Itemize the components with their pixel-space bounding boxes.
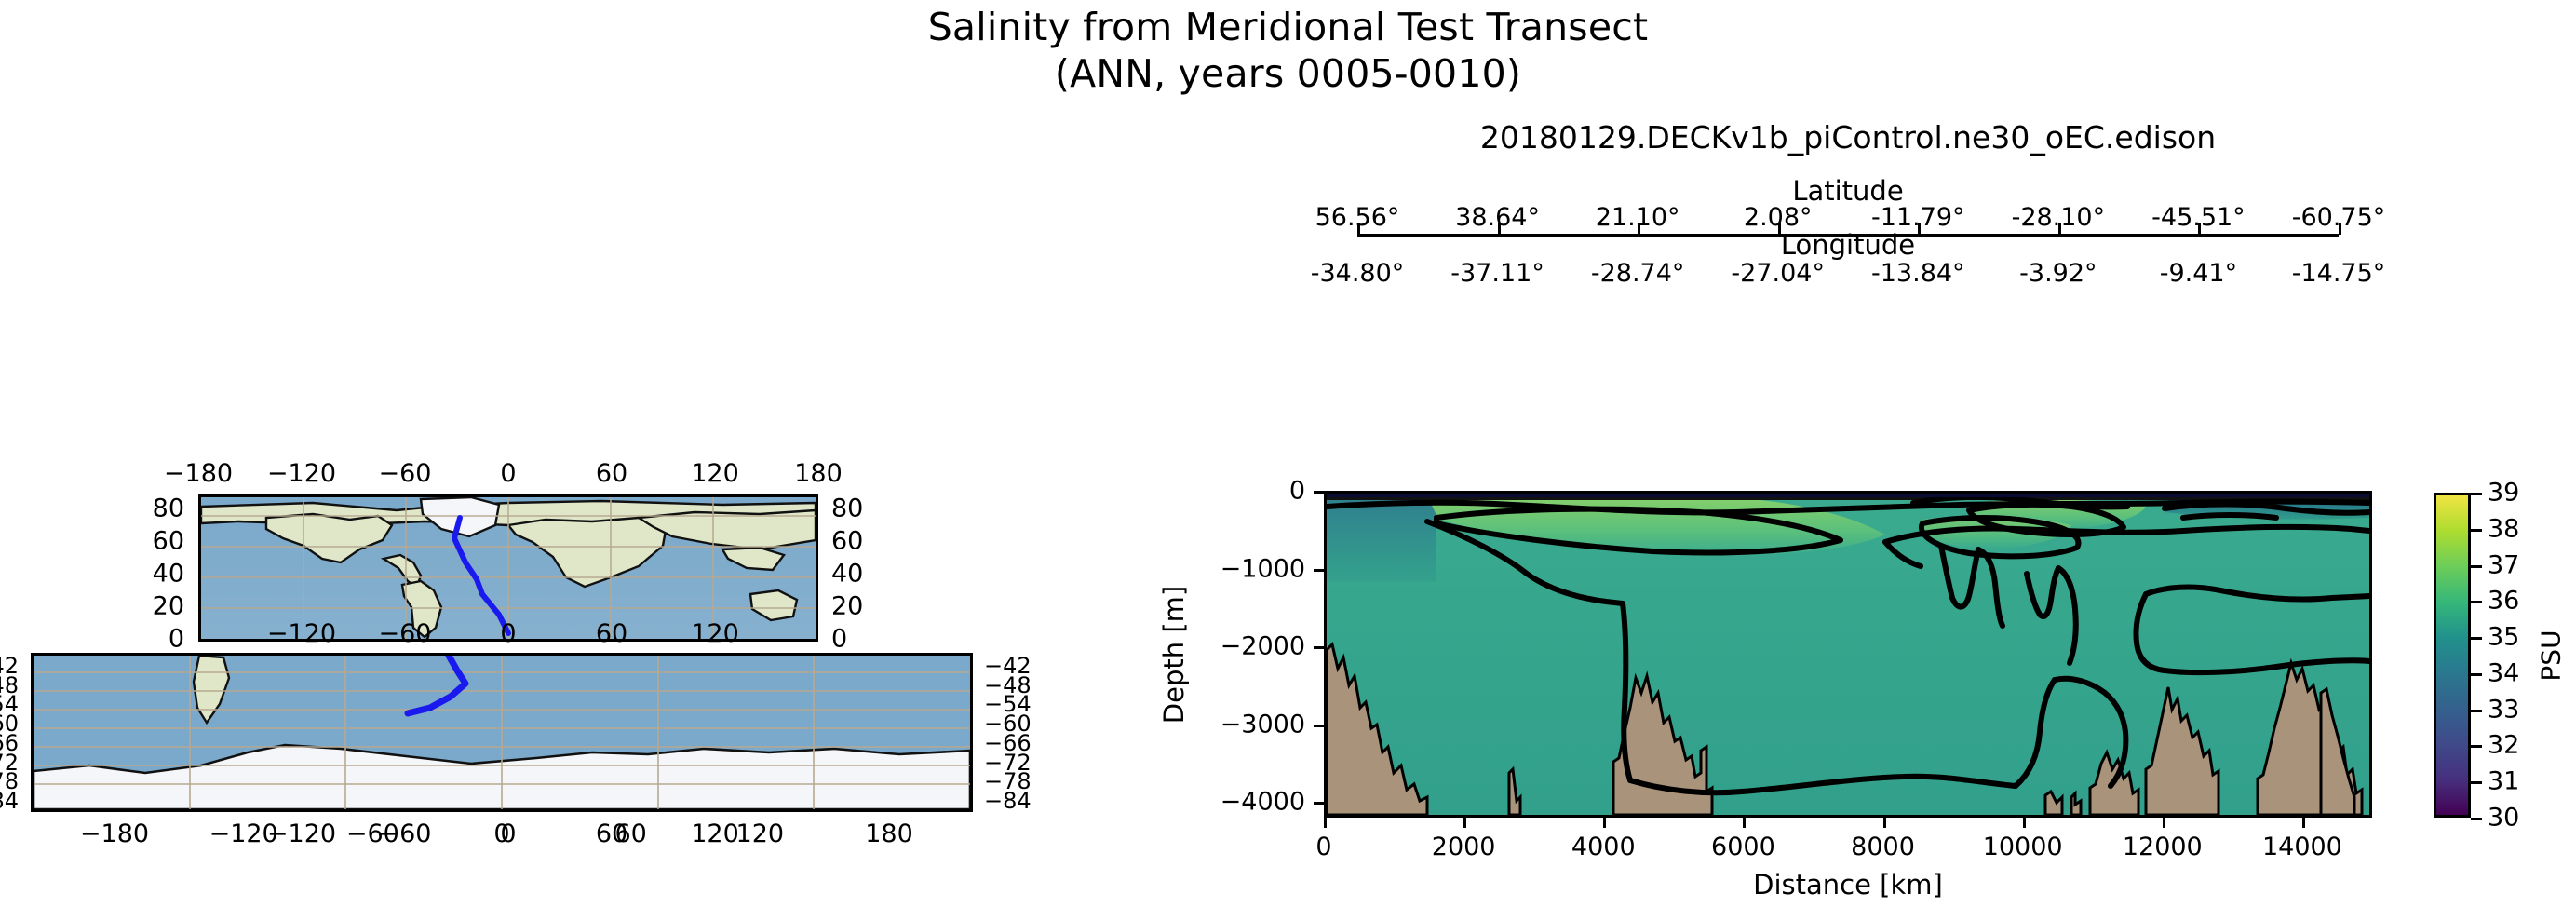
longitude-axis-label: Longitude xyxy=(1781,229,1915,261)
map-top-x-tick-5: 120 xyxy=(691,459,739,488)
longitude-tick-3: -27.04° xyxy=(1731,259,1825,288)
map-top-y-tick-right-2: 40 xyxy=(831,560,863,589)
world-map-global-svg xyxy=(201,497,816,639)
colorbar-tick-label-7: 32 xyxy=(2488,731,2519,760)
longitude-tick-5: -3.92° xyxy=(2019,259,2097,288)
longitude-tick-4: -13.84° xyxy=(1871,259,1965,288)
colorbar-tick-label-9: 30 xyxy=(2488,804,2519,833)
depth-axis-tick-4 xyxy=(1314,802,1324,805)
map-bottom-x-tick-overlay-2: 0 xyxy=(500,819,516,848)
map-top-x-tick-1: −120 xyxy=(267,459,336,488)
figure-title: Salinity from Meridional Test Transect (… xyxy=(0,4,2576,97)
distance-tick-label-1: 2000 xyxy=(1432,833,1496,861)
distance-tick-label-5: 10000 xyxy=(1983,833,2063,861)
depth-tick-label-4: −4000 xyxy=(1184,788,1305,817)
depth-tick-label-0: 0 xyxy=(1184,477,1305,506)
map-bottom-x-tick-overlay-1: −60 xyxy=(379,819,432,848)
depth-axis-tick-3 xyxy=(1314,725,1324,727)
colorbar[interactable] xyxy=(2434,493,2471,818)
colorbar-tick-label-0: 39 xyxy=(2488,479,2519,508)
depth-axis-tick-0 xyxy=(1314,491,1324,494)
map-top-x-tick-2: −60 xyxy=(379,459,432,488)
longitude-tick-7: -14.75° xyxy=(2292,259,2386,288)
map-bottom-x-tick-overlay-3: 60 xyxy=(596,819,627,848)
panel-title: 20180129.DECKv1b_piControl.ne30_oEC.edis… xyxy=(1324,119,2372,156)
colorbar-tick-label-5: 34 xyxy=(2488,658,2519,687)
map-bottom-y-tick-right-7: −84 xyxy=(984,788,1032,814)
world-map-southern[interactable] xyxy=(31,653,973,812)
map-top-x-tick-overlay-0: −120 xyxy=(267,619,336,648)
colorbar-tick-8 xyxy=(2471,781,2482,784)
map-top-x-tick-overlay-4: 120 xyxy=(691,619,739,648)
map-top-x-tick-overlay-2: 0 xyxy=(500,619,516,648)
colorbar-tick-3 xyxy=(2471,601,2482,603)
colorbar-tick-label-2: 37 xyxy=(2488,550,2519,579)
map-top-y-tick-right-3: 20 xyxy=(831,592,863,621)
map-top-x-tick-0: −180 xyxy=(164,459,233,488)
salinity-section-plot[interactable] xyxy=(1324,491,2372,818)
latitude-axis-tick-6 xyxy=(2198,223,2201,235)
longitude-tick-0: -34.80° xyxy=(1311,259,1405,288)
longitude-tick-2: -28.74° xyxy=(1591,259,1685,288)
distance-axis-tick-0 xyxy=(1324,818,1327,828)
depth-axis-tick-2 xyxy=(1314,646,1324,649)
map-top-y-tick-left-1: 60 xyxy=(110,527,184,556)
depth-tick-label-2: −2000 xyxy=(1184,632,1305,661)
map-top-y-tick-left-4: 0 xyxy=(110,625,184,654)
map-top-x-tick-4: 60 xyxy=(596,459,627,488)
map-top-y-tick-left-3: 20 xyxy=(110,592,184,621)
distance-tick-label-7: 14000 xyxy=(2262,833,2342,861)
map-top-x-tick-3: 0 xyxy=(500,459,516,488)
map-top-x-tick-overlay-3: 60 xyxy=(596,619,627,648)
colorbar-tick-label-8: 31 xyxy=(2488,767,2519,796)
map-bottom-x-tick-5: 120 xyxy=(736,819,785,848)
colorbar-tick-6 xyxy=(2471,710,2482,712)
salinity-section-svg xyxy=(1327,494,2369,815)
map-top-y-tick-right-1: 60 xyxy=(831,527,863,556)
colorbar-tick-label-3: 36 xyxy=(2488,587,2519,616)
map-bottom-x-tick-0: −180 xyxy=(80,819,149,848)
map-top-y-tick-left-0: 80 xyxy=(110,494,184,523)
colorbar-tick-4 xyxy=(2471,637,2482,640)
map-bottom-x-tick-6: 180 xyxy=(865,819,913,848)
colorbar-tick-5 xyxy=(2471,673,2482,676)
distance-axis-tick-3 xyxy=(1743,818,1746,828)
distance-tick-label-0: 0 xyxy=(1315,833,1331,861)
map-bottom-x-tick-overlay-4: 120 xyxy=(691,819,739,848)
depth-axis-label: Depth [m] xyxy=(1158,586,1190,724)
colorbar-tick-7 xyxy=(2471,745,2482,748)
colorbar-tick-1 xyxy=(2471,529,2482,532)
colorbar-tick-2 xyxy=(2471,565,2482,568)
latitude-axis-tick-2 xyxy=(1638,223,1640,235)
distance-axis-tick-2 xyxy=(1603,818,1606,828)
distance-axis-label: Distance [km] xyxy=(1753,869,1943,901)
longitude-tick-6: -9.41° xyxy=(2160,259,2237,288)
latitude-axis-tick-5 xyxy=(2058,223,2061,235)
map-bottom-x-tick-overlay-0: −120 xyxy=(267,819,336,848)
colorbar-tick-9 xyxy=(2471,818,2482,820)
latitude-axis-tick-7 xyxy=(2339,223,2341,235)
latitude-axis-label: Latitude xyxy=(1792,175,1903,207)
distance-axis-tick-4 xyxy=(1883,818,1886,828)
figure-title-line2: (ANN, years 0005-0010) xyxy=(0,50,2576,97)
colorbar-tick-label-1: 38 xyxy=(2488,514,2519,543)
distance-tick-label-2: 4000 xyxy=(1571,833,1636,861)
colorbar-tick-label-4: 35 xyxy=(2488,623,2519,652)
colorbar-tick-label-6: 33 xyxy=(2488,695,2519,724)
distance-axis-tick-6 xyxy=(2163,818,2165,828)
longitude-tick-1: -37.11° xyxy=(1450,259,1544,288)
map-top-x-tick-overlay-1: −60 xyxy=(379,619,432,648)
colorbar-label: PSU xyxy=(2536,630,2567,681)
latitude-axis-tick-0 xyxy=(1357,223,1360,235)
figure-title-line1: Salinity from Meridional Test Transect xyxy=(0,4,2576,50)
latitude-axis-tick-1 xyxy=(1498,223,1501,235)
map-top-y-tick-right-0: 80 xyxy=(831,494,863,523)
depth-tick-label-3: −3000 xyxy=(1184,710,1305,738)
surface-boundary xyxy=(1327,494,2369,497)
distance-axis-tick-1 xyxy=(1463,818,1466,828)
map-bottom-y-tick-left-7: −84 xyxy=(0,788,19,814)
distance-axis-tick-5 xyxy=(2023,818,2026,828)
map-top-x-tick-6: 180 xyxy=(794,459,843,488)
distance-tick-label-3: 6000 xyxy=(1711,833,1775,861)
depth-axis-tick-1 xyxy=(1314,569,1324,572)
depth-tick-label-1: −1000 xyxy=(1184,554,1305,583)
latitude-axis-tick-4 xyxy=(1918,223,1921,235)
distance-tick-label-6: 12000 xyxy=(2123,833,2203,861)
distance-axis-tick-7 xyxy=(2302,818,2305,828)
colorbar-tick-0 xyxy=(2471,493,2482,495)
map-top-y-tick-right-4: 0 xyxy=(831,625,847,654)
world-map-southern-svg xyxy=(34,656,970,809)
distance-tick-label-4: 8000 xyxy=(1851,833,1915,861)
map-top-y-tick-left-2: 40 xyxy=(110,560,184,589)
